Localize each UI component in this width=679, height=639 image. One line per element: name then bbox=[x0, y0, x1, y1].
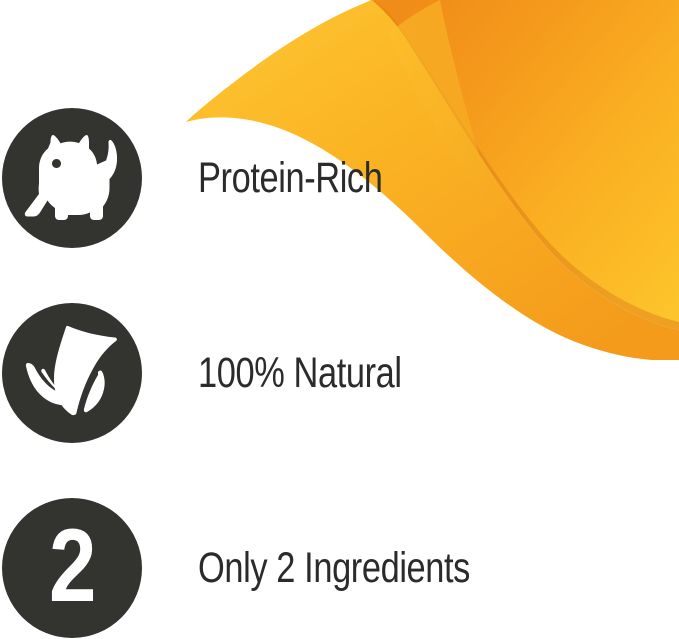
feature-label: Protein-Rich bbox=[198, 157, 382, 200]
feature-label: Only 2 Ingredients bbox=[198, 547, 470, 590]
leaf-icon bbox=[20, 323, 124, 423]
feature-row: 2 Only 2 Ingredients bbox=[0, 498, 679, 638]
feature-row: Protein-Rich bbox=[0, 108, 679, 248]
badge-number-text: 2 bbox=[49, 514, 95, 618]
number-two-badge: 2 bbox=[2, 498, 142, 638]
feature-label: 100% Natural bbox=[198, 352, 402, 395]
cat-icon-badge bbox=[2, 108, 142, 248]
feature-row: 100% Natural bbox=[0, 303, 679, 443]
leaf-icon-badge bbox=[2, 303, 142, 443]
product-benefits-graphic: Protein-Rich 100% Natural 2 Only 2 Ingre… bbox=[0, 0, 679, 639]
cat-icon bbox=[20, 132, 124, 224]
